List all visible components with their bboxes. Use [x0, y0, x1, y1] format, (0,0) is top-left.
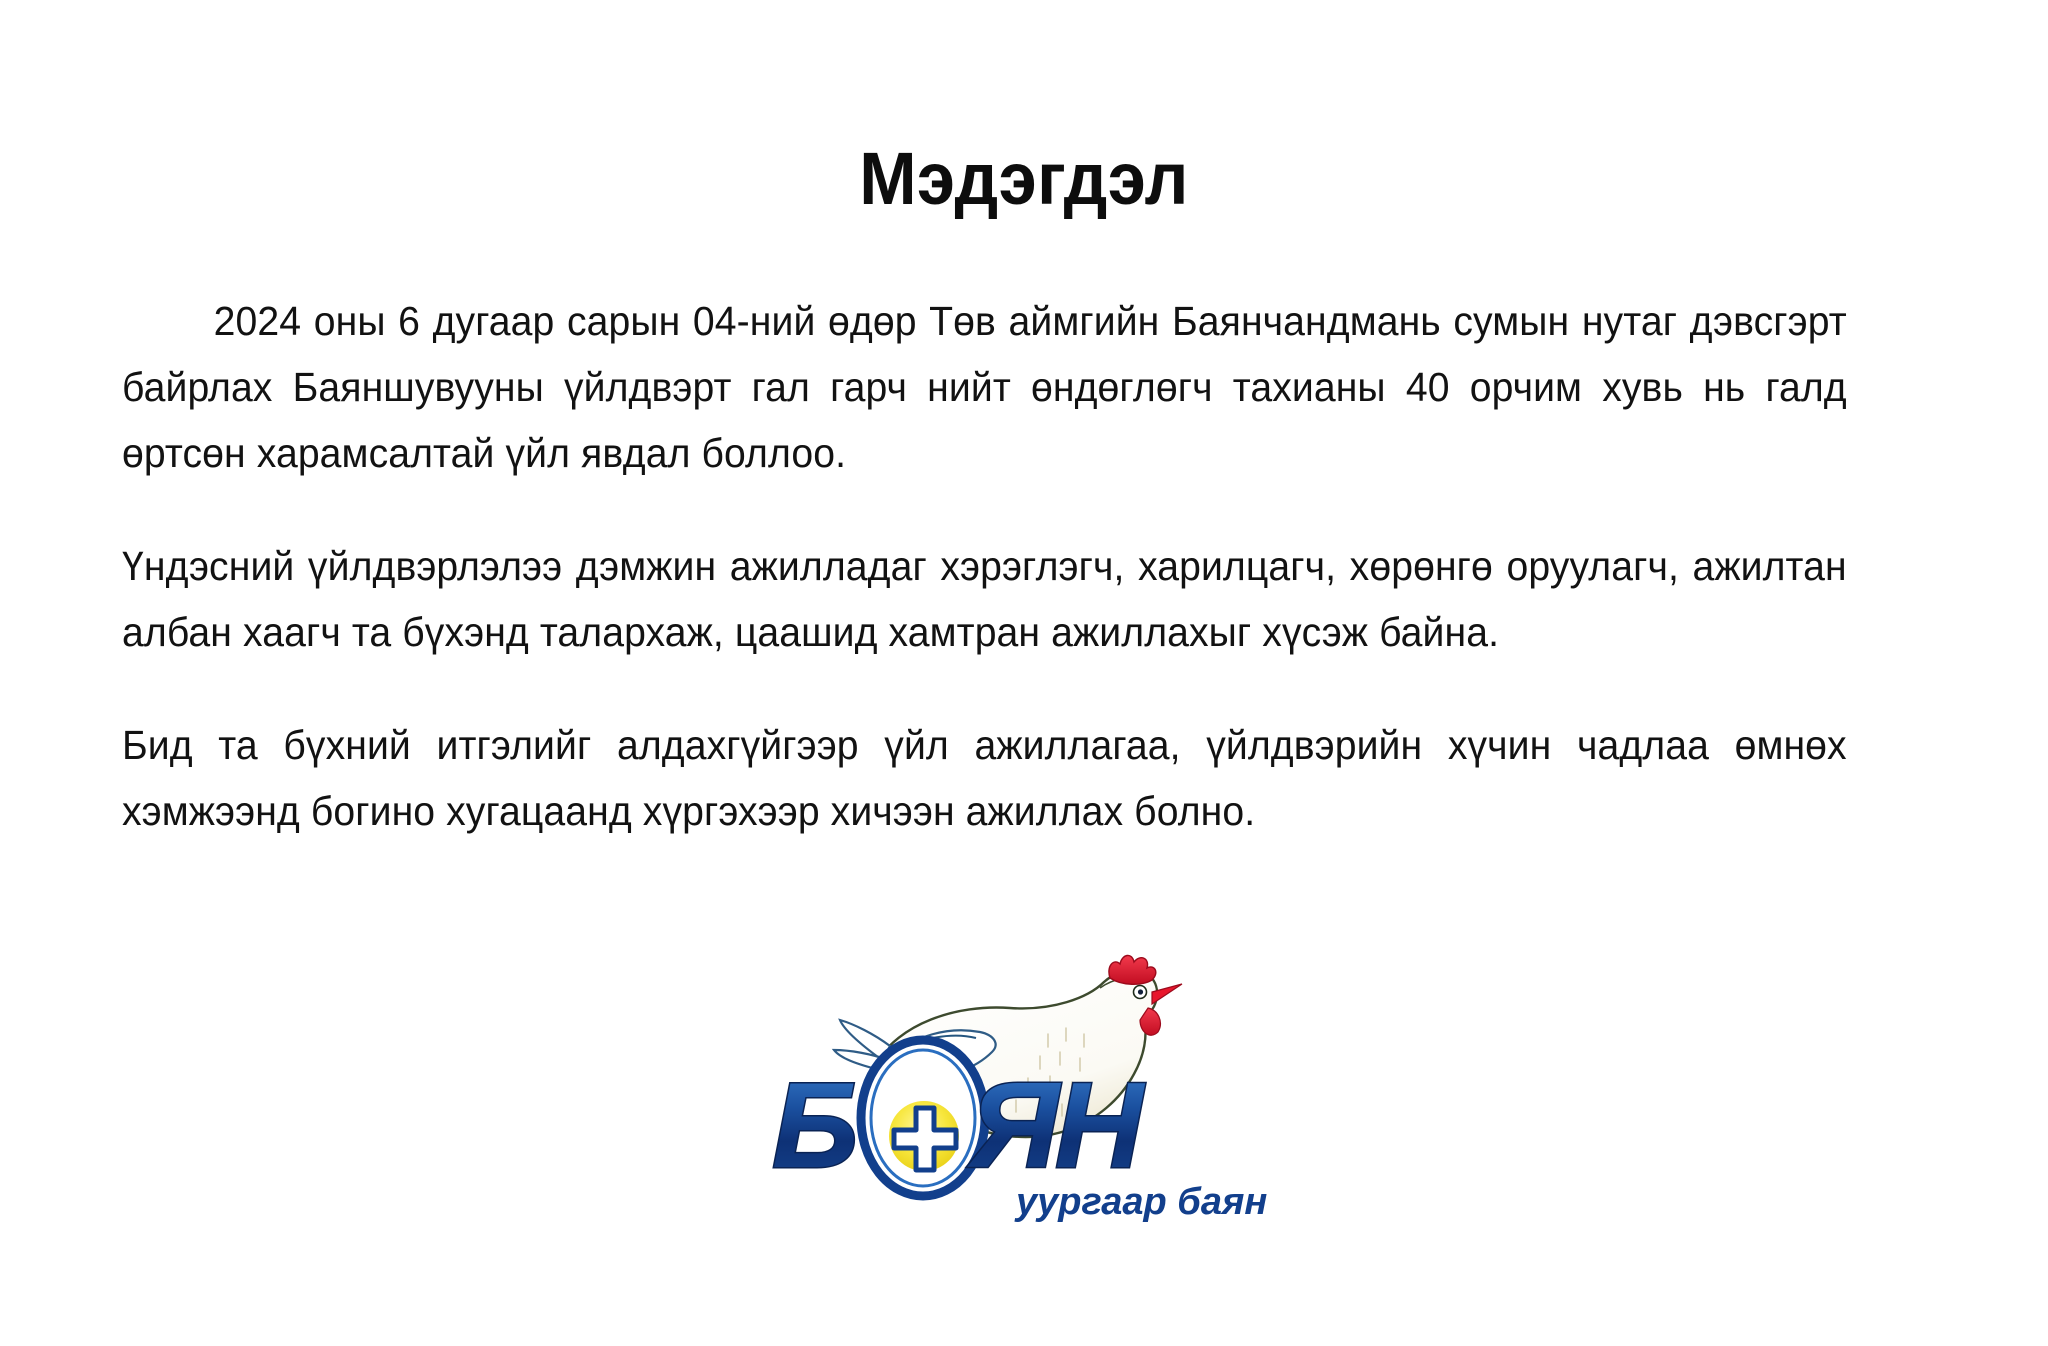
page-title: Мэдэгдэл: [72, 142, 1977, 216]
announcement-body: 2024 оны 6 дугаар сарын 04-ний өдөр Төв …: [122, 288, 1928, 844]
logo-tagline: уургаар баян: [1014, 1181, 1267, 1223]
paragraph-gratitude: Үндэсний үйлдвэрлэлээ дэмжин ажилладаг х…: [122, 533, 1847, 665]
bayan-logo-svg: Б А ЯН уургаар баян: [748, 952, 1308, 1232]
paragraph-incident-notice: 2024 оны 6 дугаар сарын 04-ний өдөр Төв …: [122, 288, 1847, 486]
bayan-logo: Б А ЯН уургаар баян: [748, 952, 1308, 1232]
paragraph-commitment: Бид та бүхний итгэлийг алдахгүйгээр үйл …: [122, 712, 1847, 844]
svg-text:Б: Б: [772, 1057, 855, 1193]
svg-text:ЯН: ЯН: [967, 1057, 1146, 1193]
announcement-page: Мэдэгдэл 2024 оны 6 дугаар сарын 04-ний …: [0, 0, 2048, 1346]
